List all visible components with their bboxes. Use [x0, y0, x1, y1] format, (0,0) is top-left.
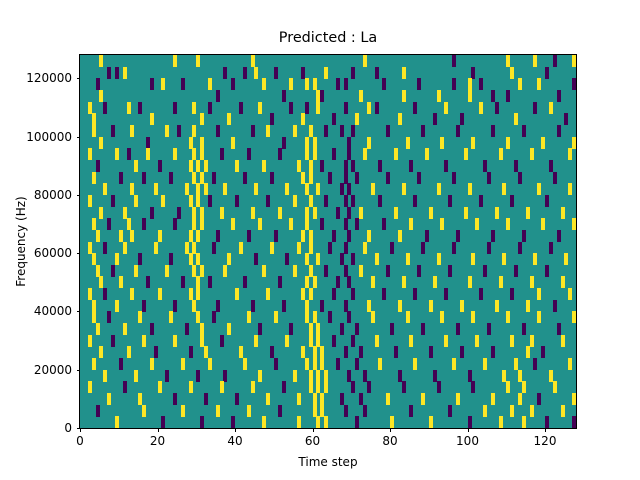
heatmap-cell	[92, 311, 96, 323]
heatmap-cell	[537, 183, 541, 195]
heatmap-cell	[293, 125, 297, 137]
heatmap-cell	[146, 276, 150, 288]
x-tick-label: 20	[118, 434, 198, 448]
heatmap-cell	[464, 207, 468, 219]
heatmap-cell	[549, 102, 553, 114]
heatmap-cell	[301, 288, 305, 300]
heatmap-cell	[316, 102, 320, 114]
heatmap-cell	[340, 183, 344, 195]
heatmap-cell	[464, 148, 468, 160]
heatmap-cell	[161, 78, 165, 90]
heatmap-cell	[278, 207, 282, 219]
heatmap-cell	[479, 78, 483, 90]
heatmap-cell	[572, 137, 576, 149]
heatmap-cell	[510, 67, 514, 79]
heatmap-cell	[216, 230, 220, 242]
heatmap-cell	[409, 218, 413, 230]
x-tick-label: 60	[273, 434, 353, 448]
heatmap-cell	[413, 195, 417, 207]
heatmap-cell	[328, 172, 332, 184]
heatmap-cell	[258, 102, 262, 114]
heatmap-cell	[189, 288, 193, 300]
heatmap-cell	[169, 311, 173, 323]
heatmap-cell	[96, 78, 100, 90]
heatmap-cell	[533, 55, 537, 67]
heatmap-cell	[111, 335, 115, 347]
heatmap-cell	[394, 207, 398, 219]
heatmap-cell	[309, 242, 313, 254]
heatmap-cell	[192, 125, 196, 137]
heatmap-cell	[305, 207, 309, 219]
heatmap-cell	[448, 265, 452, 277]
heatmap-cell	[444, 288, 448, 300]
heatmap-cell	[309, 195, 313, 207]
heatmap-cell	[413, 358, 417, 370]
heatmap-cell	[127, 218, 131, 230]
heatmap-cell	[344, 242, 348, 254]
heatmap-cell	[386, 172, 390, 184]
heatmap-cell	[262, 265, 266, 277]
heatmap-cell	[390, 416, 394, 428]
heatmap-cell	[568, 148, 572, 160]
heatmap-cell	[355, 113, 359, 125]
x-tick-label: 100	[428, 434, 508, 448]
heatmap-cell	[479, 195, 483, 207]
heatmap-cell	[231, 78, 235, 90]
heatmap-cell	[347, 276, 351, 288]
heatmap-cell	[398, 230, 402, 242]
heatmap-cell	[103, 183, 107, 195]
heatmap-cell	[421, 242, 425, 254]
heatmap-cell	[359, 393, 363, 405]
heatmap-cell	[468, 90, 472, 102]
heatmap-cell	[568, 183, 572, 195]
heatmap-cell	[208, 195, 212, 207]
heatmap-cell	[309, 125, 313, 137]
heatmap-cell	[444, 102, 448, 114]
heatmap-cell	[107, 218, 111, 230]
heatmap-cell	[103, 102, 107, 114]
y-tick-label: 40000	[0, 304, 72, 318]
heatmap-cell	[301, 346, 305, 358]
y-tick-label: 120000	[0, 71, 72, 85]
heatmap-cell	[452, 55, 456, 67]
heatmap-cell	[192, 265, 196, 277]
heatmap-cell	[130, 183, 134, 195]
heatmap-cell	[378, 195, 382, 207]
heatmap-cell	[270, 172, 274, 184]
heatmap-cell	[138, 311, 142, 323]
heatmap-cell	[123, 67, 127, 79]
heatmap-cell	[181, 78, 185, 90]
heatmap-cell	[324, 381, 328, 393]
x-tick-label: 0	[40, 434, 120, 448]
heatmap-cell	[254, 253, 258, 265]
heatmap-cell	[309, 230, 313, 242]
heatmap-cell	[510, 195, 514, 207]
heatmap-image	[80, 55, 576, 428]
heatmap-cell	[313, 358, 317, 370]
heatmap-cell	[437, 183, 441, 195]
heatmap-cell	[557, 125, 561, 137]
y-tick-mark	[77, 370, 81, 371]
heatmap-cell	[506, 311, 510, 323]
heatmap-cell	[130, 288, 134, 300]
heatmap-cell	[134, 195, 138, 207]
heatmap-cell	[460, 346, 464, 358]
heatmap-cell	[231, 218, 235, 230]
heatmap-cell	[378, 358, 382, 370]
heatmap-cell	[506, 218, 510, 230]
heatmap-cell	[351, 288, 355, 300]
heatmap-cell	[344, 195, 348, 207]
heatmap-cell	[320, 346, 324, 358]
heatmap-cell	[285, 253, 289, 265]
heatmap-cell	[502, 183, 506, 195]
heatmap-cell	[541, 218, 545, 230]
heatmap-cell	[96, 160, 100, 172]
heatmap-cell	[88, 242, 92, 254]
heatmap-cell	[468, 416, 472, 428]
heatmap-cell	[367, 137, 371, 149]
heatmap-cell	[514, 358, 518, 370]
heatmap-cell	[429, 300, 433, 312]
heatmap-cell	[313, 346, 317, 358]
heatmap-cell	[440, 137, 444, 149]
heatmap-cell	[332, 113, 336, 125]
x-tick-mark	[80, 428, 81, 432]
heatmap-cell	[316, 416, 320, 428]
heatmap-cell	[196, 276, 200, 288]
heatmap-cell	[561, 335, 565, 347]
x-tick-mark	[235, 428, 236, 432]
heatmap-cell	[177, 207, 181, 219]
x-tick-label: 120	[505, 434, 585, 448]
heatmap-cell	[398, 370, 402, 382]
heatmap-cell	[499, 416, 503, 428]
heatmap-cell	[409, 160, 413, 172]
heatmap-cell	[96, 323, 100, 335]
heatmap-cell	[471, 381, 475, 393]
heatmap-cell	[332, 335, 336, 347]
heatmap-cell	[88, 335, 92, 347]
heatmap-cell	[227, 323, 231, 335]
heatmap-cell	[196, 183, 200, 195]
heatmap-cell	[429, 207, 433, 219]
heatmap-cell	[375, 102, 379, 114]
heatmap-cell	[99, 346, 103, 358]
heatmap-cell	[355, 416, 359, 428]
heatmap-cell	[561, 276, 565, 288]
heatmap-cell	[332, 148, 336, 160]
heatmap-cell	[347, 370, 351, 382]
heatmap-cell	[204, 183, 208, 195]
heatmap-cell	[344, 300, 348, 312]
heatmap-cell	[150, 78, 154, 90]
heatmap-cell	[355, 218, 359, 230]
heatmap-cell	[530, 335, 534, 347]
heatmap-cell	[142, 405, 146, 417]
heatmap-cell	[285, 335, 289, 347]
y-tick-mark	[77, 311, 81, 312]
heatmap-cell	[235, 288, 239, 300]
heatmap-cell	[390, 242, 394, 254]
heatmap-cell	[223, 183, 227, 195]
heatmap-cell	[189, 253, 193, 265]
heatmap-cell	[491, 125, 495, 137]
heatmap-cell	[324, 125, 328, 137]
heatmap-cell	[115, 67, 119, 79]
heatmap-cell	[460, 113, 464, 125]
heatmap-cell	[355, 358, 359, 370]
heatmap-cell	[324, 67, 328, 79]
heatmap-cell	[351, 381, 355, 393]
heatmap-cell	[316, 323, 320, 335]
heatmap-cell	[92, 253, 96, 265]
heatmap-cell	[487, 323, 491, 335]
heatmap-cell	[297, 160, 301, 172]
heatmap-cell	[344, 265, 348, 277]
heatmap-cell	[526, 207, 530, 219]
heatmap-cell	[514, 113, 518, 125]
heatmap-cell	[189, 160, 193, 172]
heatmap-cell	[351, 195, 355, 207]
heatmap-cell	[568, 288, 572, 300]
heatmap-cell	[386, 125, 390, 137]
heatmap-cell	[254, 183, 258, 195]
heatmap-cell	[440, 311, 444, 323]
heatmap-cell	[309, 265, 313, 277]
heatmap-cell	[506, 90, 510, 102]
heatmap-cell	[394, 148, 398, 160]
heatmap-cell	[518, 242, 522, 254]
heatmap-cell	[150, 113, 154, 125]
heatmap-cell	[429, 346, 433, 358]
heatmap-cell	[200, 323, 204, 335]
heatmap-cell	[123, 242, 127, 254]
heatmap-cell	[316, 253, 320, 265]
heatmap-cell	[239, 242, 243, 254]
heatmap-cell	[495, 207, 499, 219]
heatmap-cell	[433, 113, 437, 125]
heatmap-cell	[208, 358, 212, 370]
heatmap-cell	[421, 323, 425, 335]
heatmap-cell	[421, 393, 425, 405]
heatmap-cell	[409, 405, 413, 417]
heatmap-cell	[351, 335, 355, 347]
heatmap-cell	[243, 67, 247, 79]
heatmap-cell	[495, 102, 499, 114]
heatmap-cell	[309, 370, 313, 382]
heatmap-cell	[289, 102, 293, 114]
heatmap-cell	[471, 137, 475, 149]
heatmap-cell	[514, 265, 518, 277]
heatmap-cell	[340, 253, 344, 265]
heatmap-cell	[437, 253, 441, 265]
heatmap-cell	[351, 125, 355, 137]
heatmap-cell	[301, 172, 305, 184]
y-tick-label: 80000	[0, 188, 72, 202]
heatmap-cell	[433, 370, 437, 382]
heatmap-cell	[413, 102, 417, 114]
heatmap-cell	[344, 78, 348, 90]
heatmap-cell	[119, 172, 123, 184]
heatmap-cell	[406, 253, 410, 265]
heatmap-cell	[142, 218, 146, 230]
heatmap-cell	[173, 218, 177, 230]
heatmap-cell	[192, 207, 196, 219]
heatmap-cell	[359, 265, 363, 277]
heatmap-cell	[212, 311, 216, 323]
heatmap-cell	[301, 67, 305, 79]
heatmap-cell	[247, 311, 251, 323]
heatmap-cell	[289, 323, 293, 335]
heatmap-cell	[305, 148, 309, 160]
heatmap-cell	[262, 160, 266, 172]
heatmap-cell	[452, 358, 456, 370]
heatmap-cell	[533, 358, 537, 370]
heatmap-cell	[123, 381, 127, 393]
heatmap-cell	[483, 265, 487, 277]
heatmap-cell	[138, 253, 142, 265]
heatmap-cell	[251, 125, 255, 137]
heatmap-cell	[92, 113, 96, 125]
heatmap-cell	[398, 300, 402, 312]
heatmap-cell	[471, 311, 475, 323]
heatmap-cell	[154, 183, 158, 195]
heatmap-cell	[320, 358, 324, 370]
heatmap-cell	[506, 381, 510, 393]
heatmap-cell	[192, 102, 196, 114]
heatmap-cell	[367, 300, 371, 312]
heatmap-cell	[223, 370, 227, 382]
heatmap-cell	[549, 242, 553, 254]
heatmap-cell	[181, 358, 185, 370]
heatmap-cell	[130, 125, 134, 137]
heatmap-cell	[452, 78, 456, 90]
heatmap-cell	[165, 125, 169, 137]
heatmap-cell	[378, 160, 382, 172]
heatmap-cell	[103, 288, 107, 300]
heatmap-cell	[553, 300, 557, 312]
heatmap-cell	[448, 195, 452, 207]
heatmap-cell	[537, 311, 541, 323]
heatmap-cell	[309, 381, 313, 393]
heatmap-cell	[173, 393, 177, 405]
heatmap-cell	[530, 148, 534, 160]
heatmap-cell	[347, 207, 351, 219]
heatmap-cell	[247, 405, 251, 417]
heatmap-cell	[278, 148, 282, 160]
heatmap-cell	[274, 311, 278, 323]
heatmap-cell	[456, 323, 460, 335]
heatmap-cell	[363, 55, 367, 67]
heatmap-cell	[262, 416, 266, 428]
heatmap-cell	[324, 370, 328, 382]
heatmap-cell	[212, 172, 216, 184]
heatmap-cell	[564, 113, 568, 125]
heatmap-cell	[200, 218, 204, 230]
heatmap-cell	[247, 230, 251, 242]
heatmap-cell	[208, 102, 212, 114]
heatmap-cell	[363, 148, 367, 160]
heatmap-cell	[417, 265, 421, 277]
heatmap-cell	[88, 288, 92, 300]
x-tick-label: 40	[195, 434, 275, 448]
heatmap-cell	[522, 416, 526, 428]
heatmap-cell	[406, 137, 410, 149]
heatmap-cell	[247, 148, 251, 160]
heatmap-cell	[402, 90, 406, 102]
heatmap-cell	[355, 172, 359, 184]
heatmap-cell	[293, 265, 297, 277]
heatmap-cell	[266, 288, 270, 300]
heatmap-cell	[196, 55, 200, 67]
heatmap-cell	[421, 125, 425, 137]
heatmap-cell	[134, 160, 138, 172]
heatmap-axes	[79, 54, 577, 429]
heatmap-cell	[251, 207, 255, 219]
heatmap-cell	[227, 253, 231, 265]
heatmap-cell	[340, 323, 344, 335]
heatmap-cell	[514, 160, 518, 172]
heatmap-cell	[243, 358, 247, 370]
heatmap-cell	[425, 230, 429, 242]
y-tick-mark	[77, 137, 81, 138]
heatmap-cell	[545, 416, 549, 428]
heatmap-cell	[161, 416, 165, 428]
heatmap-cell	[185, 323, 189, 335]
heatmap-cell	[258, 370, 262, 382]
heatmap-cell	[332, 230, 336, 242]
heatmap-cell	[293, 370, 297, 382]
y-tick-label: 20000	[0, 363, 72, 377]
heatmap-cell	[316, 381, 320, 393]
heatmap-cell	[154, 346, 158, 358]
heatmap-cell	[460, 300, 464, 312]
heatmap-cell	[526, 300, 530, 312]
heatmap-cell	[468, 276, 472, 288]
heatmap-cell	[103, 370, 107, 382]
y-tick-label: 0	[0, 421, 72, 435]
heatmap-cell	[549, 370, 553, 382]
heatmap-cell	[92, 300, 96, 312]
heatmap-cell	[456, 393, 460, 405]
heatmap-cell	[305, 183, 309, 195]
heatmap-cell	[557, 90, 561, 102]
heatmap-cell	[313, 137, 317, 149]
matplotlib-figure: Predicted : La 020406080100120 020000400…	[0, 0, 640, 480]
heatmap-cell	[553, 381, 557, 393]
heatmap-cell	[119, 230, 123, 242]
heatmap-cell	[99, 276, 103, 288]
heatmap-cell	[572, 311, 576, 323]
y-tick-mark	[77, 428, 81, 429]
heatmap-cell	[479, 102, 483, 114]
heatmap-cell	[487, 172, 491, 184]
heatmap-cell	[142, 172, 146, 184]
heatmap-cell	[274, 67, 278, 79]
heatmap-cell	[142, 300, 146, 312]
heatmap-cell	[336, 358, 340, 370]
x-tick-mark	[158, 428, 159, 432]
x-tick-mark	[468, 428, 469, 432]
heatmap-cell	[499, 148, 503, 160]
heatmap-cell	[475, 218, 479, 230]
heatmap-cell	[278, 276, 282, 288]
heatmap-cell	[270, 242, 274, 254]
heatmap-cell	[518, 78, 522, 90]
